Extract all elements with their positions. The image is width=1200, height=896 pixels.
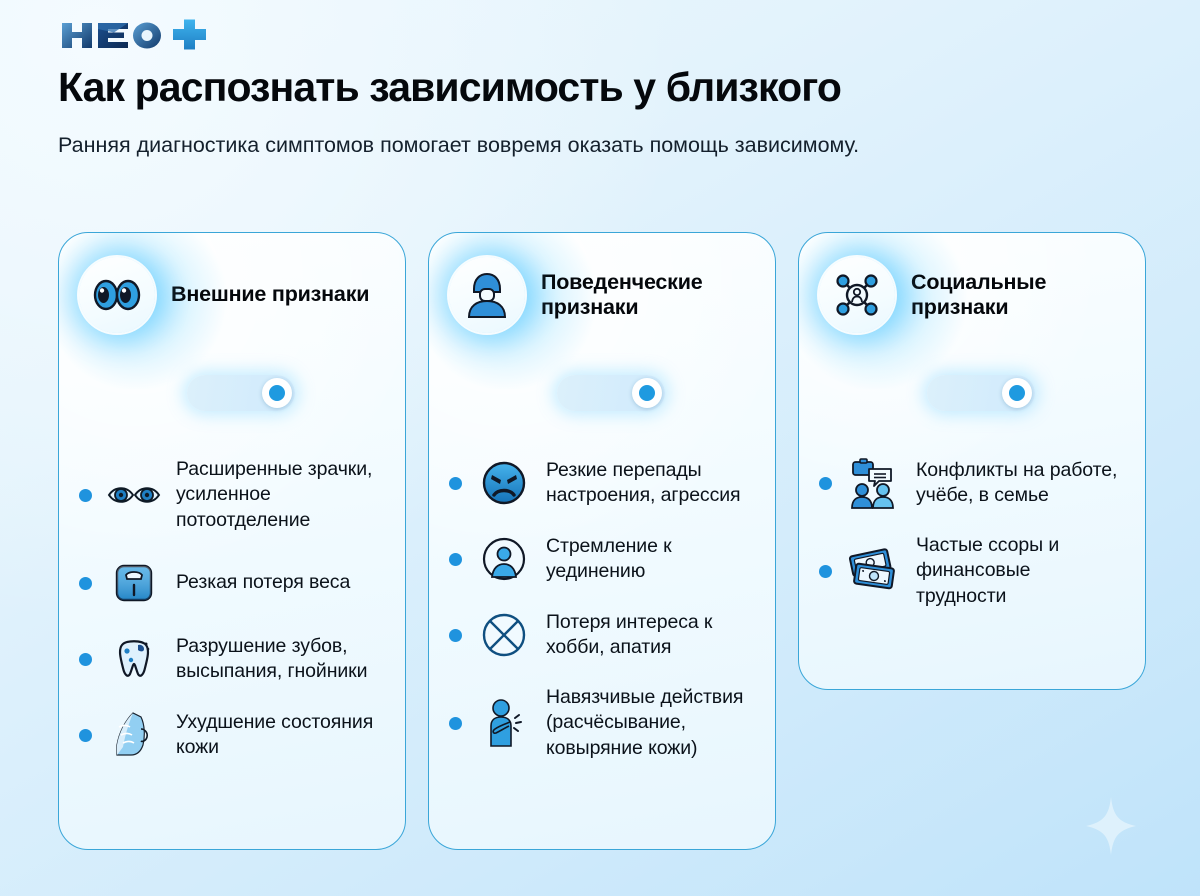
angry-face-icon xyxy=(476,457,532,509)
toggle-external-signs[interactable] xyxy=(187,375,295,411)
toggle-knob xyxy=(262,378,292,408)
list-item-text: Потеря интереса к хобби, апатия xyxy=(546,610,755,661)
signs-list: Резкие перепады настроения, агрессия Стр… xyxy=(449,445,755,773)
card-header: Поведенческие признаки xyxy=(449,255,755,335)
bullet-dot xyxy=(79,653,92,666)
banknotes-icon xyxy=(846,545,902,597)
list-item: Стремление к уединению xyxy=(449,521,755,597)
signs-list: Расширенные зрачки, усиленное потоотделе… xyxy=(79,445,385,773)
card-external-signs: Внешние признаки xyxy=(58,232,406,850)
neo-plus-logo-icon xyxy=(58,18,208,52)
tooth-decay-icon xyxy=(106,633,162,685)
card-social-signs: Социальные признаки xyxy=(798,232,1146,690)
list-item-text: Навязчивые действия (расчёсывание, ковыр… xyxy=(546,685,755,761)
bullet-dot xyxy=(449,629,462,642)
crossed-circle-icon xyxy=(476,609,532,661)
toggle-knob xyxy=(632,378,662,408)
card-title: Внешние признаки xyxy=(171,282,369,307)
list-item-text: Разрушение зубов, высыпания, гнойники xyxy=(176,634,385,685)
list-item: Разрушение зубов, высыпания, гнойники xyxy=(79,621,385,697)
bullet-dot xyxy=(79,577,92,590)
list-item-text: Стремление к уединению xyxy=(546,534,755,585)
list-item: Резкие перепады настроения, агрессия xyxy=(449,445,755,521)
signs-list: Конфликты на работе, учёбе, в семье xyxy=(819,445,1125,621)
list-item: Частые ссоры и финансовые трудности xyxy=(819,521,1125,621)
bullet-dot xyxy=(819,565,832,578)
weight-scale-icon xyxy=(106,557,162,609)
bullet-dot xyxy=(79,729,92,742)
list-item-text: Конфликты на работе, учёбе, в семье xyxy=(916,458,1125,509)
list-item: Расширенные зрачки, усиленное потоотделе… xyxy=(79,445,385,545)
people-conflict-icon xyxy=(846,457,902,509)
toggle-behavioral-signs[interactable] xyxy=(557,375,665,411)
card-header: Социальные признаки xyxy=(819,255,1125,335)
toggle-social-signs[interactable] xyxy=(927,375,1035,411)
person-scratching-icon xyxy=(476,697,532,749)
card-behavioral-signs: Поведенческие признаки xyxy=(428,232,776,850)
list-item: Резкая потеря веса xyxy=(79,545,385,621)
signs-cards-row: Внешние признаки xyxy=(58,232,1158,850)
list-item-text: Расширенные зрачки, усиленное потоотделе… xyxy=(176,457,385,533)
toggle-knob xyxy=(1002,378,1032,408)
list-item: Ухудшение состояния кожи xyxy=(79,697,385,773)
list-item-text: Частые ссоры и финансовые трудности xyxy=(916,533,1125,609)
list-item: Потеря интереса к хобби, апатия xyxy=(449,597,755,673)
list-item-text: Резкие перепады настроения, агрессия xyxy=(546,458,755,509)
person-circle-icon xyxy=(476,533,532,585)
page-subtitle: Ранняя диагностика симптомов помогает во… xyxy=(58,129,958,161)
eyes-pupils-icon xyxy=(106,469,162,521)
person-avatar-icon xyxy=(449,257,525,333)
bullet-dot xyxy=(449,477,462,490)
list-item: Навязчивые действия (расчёсывание, ковыр… xyxy=(449,673,755,773)
bullet-dot xyxy=(449,553,462,566)
toggle-row xyxy=(819,375,1125,411)
bullet-dot xyxy=(819,477,832,490)
bullet-dot xyxy=(79,489,92,502)
eyes-icon xyxy=(79,257,155,333)
list-item-text: Ухудшение состояния кожи xyxy=(176,710,385,761)
face-skin-icon xyxy=(106,709,162,761)
toggle-row xyxy=(79,375,385,411)
page-header: Как распознать зависимость у близкого Ра… xyxy=(0,0,1200,161)
card-title: Социальные признаки xyxy=(911,270,1125,321)
page-title: Как распознать зависимость у близкого xyxy=(58,66,1200,110)
brand-logo xyxy=(58,18,1200,52)
social-network-icon xyxy=(819,257,895,333)
toggle-row xyxy=(449,375,755,411)
list-item: Конфликты на работе, учёбе, в семье xyxy=(819,445,1125,521)
card-header: Внешние признаки xyxy=(79,255,385,335)
list-item-text: Резкая потеря веса xyxy=(176,570,350,595)
card-title: Поведенческие признаки xyxy=(541,270,755,321)
bullet-dot xyxy=(449,717,462,730)
